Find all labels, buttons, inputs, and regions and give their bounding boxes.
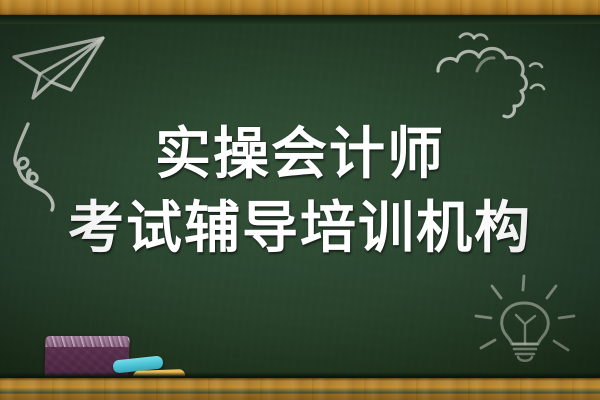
chalkboard-poster: 实操会计师 考试辅导培训机构 [0, 0, 600, 400]
headline-line-2: 考试辅导培训机构 [0, 192, 600, 266]
chalkboard-frame-top-shadow [0, 15, 600, 24]
chalkboard-ledge [0, 378, 600, 400]
headline-line-1: 实操会计师 [0, 118, 600, 192]
poster-headline: 实操会计师 考试辅导培训机构 [0, 118, 600, 266]
chalkboard-frame-top [0, 0, 600, 15]
